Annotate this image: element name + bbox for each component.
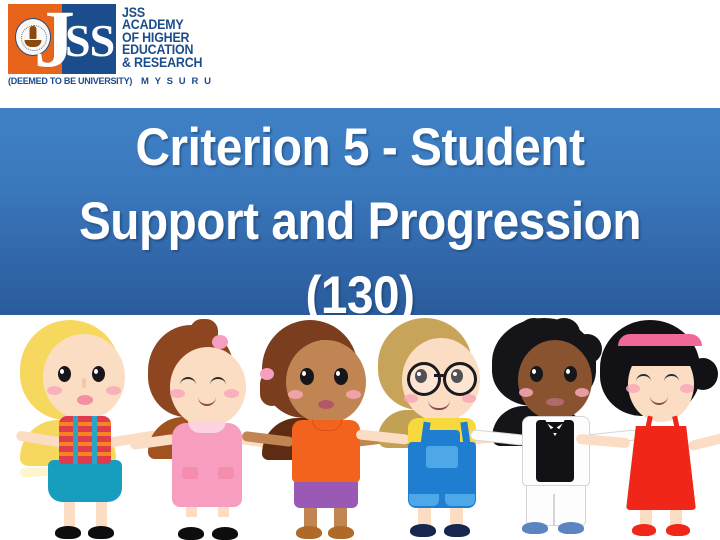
shoe-right xyxy=(666,524,690,536)
skirt xyxy=(48,460,122,502)
eye-left xyxy=(636,374,651,384)
pocket-right xyxy=(218,467,234,479)
cheek-right xyxy=(575,388,589,397)
trouser-seam xyxy=(553,494,555,526)
shirt xyxy=(59,416,111,464)
head xyxy=(43,334,125,420)
pocket-left xyxy=(182,467,198,479)
mouth xyxy=(546,398,564,406)
hair-bow xyxy=(260,368,274,380)
child-boy-with-glasses xyxy=(378,318,504,540)
jss-logo: J SS JSS ACADEMY OF HIGHER EDUCATION & R… xyxy=(8,4,298,90)
cheek-left xyxy=(170,389,185,398)
stripe xyxy=(59,452,111,456)
child-red-dress-girl xyxy=(600,320,720,540)
shoe-right xyxy=(88,526,114,539)
head xyxy=(170,347,246,427)
eye-highlight-left xyxy=(302,371,306,376)
stripe xyxy=(59,432,111,436)
logo-letters-ss: SS xyxy=(65,18,114,64)
mouth xyxy=(77,395,93,405)
title-banner: Criterion 5 - Student Support and Progre… xyxy=(0,108,720,315)
logo-subtitle-row: (DEEMED TO BE UNIVERSITY) M Y S U R U xyxy=(8,76,308,88)
child-blonde-girl xyxy=(20,320,150,540)
cuff-right xyxy=(445,494,475,506)
children-illustration xyxy=(0,315,720,540)
shoe-left xyxy=(178,527,204,540)
head xyxy=(286,340,366,424)
shoe-left xyxy=(410,524,436,537)
headband xyxy=(618,334,702,346)
eye-right xyxy=(210,377,226,387)
glasses-lens-left-icon xyxy=(407,362,441,396)
arm-right xyxy=(687,431,720,452)
head xyxy=(518,340,592,420)
shoe-right xyxy=(328,526,354,539)
logo-wordmark: JSS ACADEMY OF HIGHER EDUCATION & RESEAR… xyxy=(122,7,294,69)
shoe-right xyxy=(444,524,470,537)
shorts xyxy=(294,478,358,508)
cheek-left xyxy=(404,394,418,403)
dress xyxy=(626,426,696,510)
stripe xyxy=(59,422,111,426)
hair-part xyxy=(320,340,324,366)
shoe-left xyxy=(55,526,81,539)
deemed-university-label: (DEEMED TO BE UNIVERSITY) xyxy=(8,76,132,87)
slide-canvas: J SS JSS ACADEMY OF HIGHER EDUCATION & R… xyxy=(0,0,720,540)
suspender-right xyxy=(92,416,97,464)
cheek-left xyxy=(626,384,640,393)
eye-highlight-right xyxy=(94,369,98,374)
shoe-left xyxy=(632,524,656,536)
shoe-right xyxy=(558,522,584,534)
dress xyxy=(172,423,242,507)
cuff-left xyxy=(409,494,439,506)
hair-bow xyxy=(212,335,228,349)
suspender-left xyxy=(73,416,78,464)
stripe xyxy=(59,442,111,446)
jss-logo-mark: J SS xyxy=(8,4,116,74)
glasses-bridge xyxy=(434,374,444,377)
collar xyxy=(188,421,226,433)
cheek-right xyxy=(346,390,361,399)
cheek-right xyxy=(224,389,239,398)
cheek-right xyxy=(680,384,694,393)
eye-right xyxy=(664,374,679,384)
cheek-left xyxy=(519,388,533,397)
shoe-left xyxy=(522,522,548,534)
eye-highlight-right xyxy=(566,369,570,374)
shoe-right xyxy=(212,527,238,540)
city-label: M Y S U R U xyxy=(141,76,213,87)
page-title: Criterion 5 - Student Support and Progre… xyxy=(36,111,684,315)
shoe-left xyxy=(296,526,322,539)
hair-bangs xyxy=(626,344,696,366)
eye-highlight-right xyxy=(336,371,340,376)
eye-left xyxy=(180,377,196,387)
eye-highlight-left xyxy=(60,369,64,374)
glasses-lens-right-icon xyxy=(443,362,477,396)
eye-highlight-left xyxy=(532,369,536,374)
child-boy-with-vest xyxy=(492,318,616,540)
cheek-left xyxy=(288,390,303,399)
logo-word-line-5: & RESEARCH xyxy=(122,57,280,69)
nose xyxy=(82,378,86,388)
cheek-left xyxy=(47,386,62,395)
cheek-right xyxy=(462,394,476,403)
overall-pocket xyxy=(426,446,458,468)
mouth xyxy=(318,400,334,409)
cheek-right xyxy=(106,386,121,395)
